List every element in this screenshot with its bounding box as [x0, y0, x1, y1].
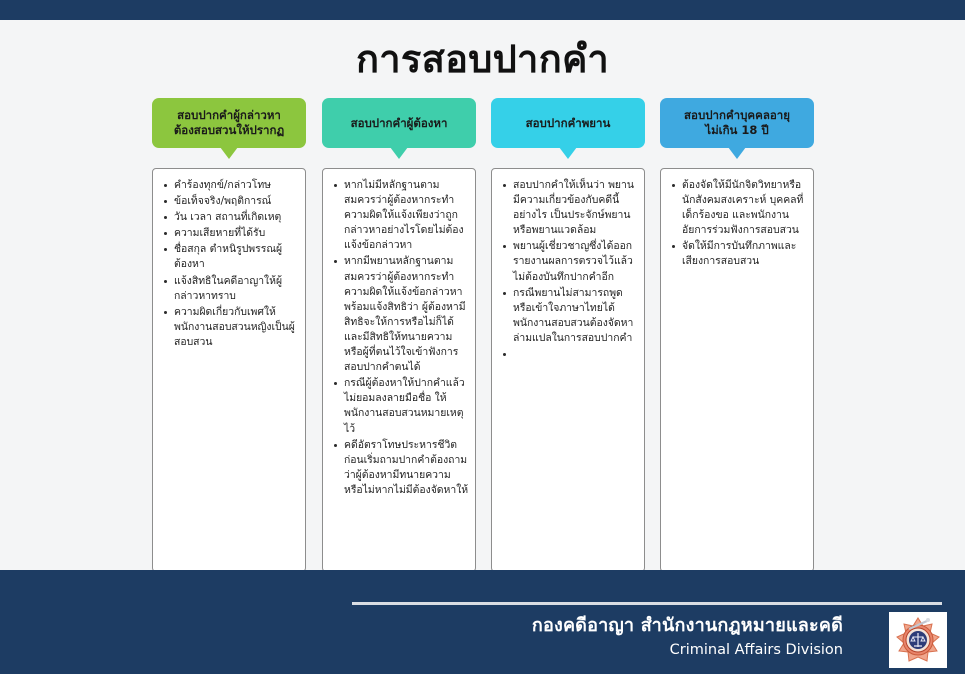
card-suspect: หากไม่มีหลักฐานตามสมควรว่าผู้ต้องหากระทำ…	[322, 168, 476, 572]
column-header-minor: สอบปากคำบุคคลอายุไม่เกิน 18 ปี	[660, 98, 814, 148]
top-band	[0, 0, 965, 20]
column-suspect: สอบปากคำผู้ต้องหา หากไม่มีหลักฐานตามสมคว…	[322, 98, 476, 572]
list-item: ชื่อสกุล ตำหนิรูปพรรณผู้ต้องหา	[174, 242, 299, 272]
list-item: วัน เวลา สถานที่เกิดเหตุ	[174, 210, 299, 225]
column-header-label: สอบปากคำผู้ต้องหา	[351, 116, 448, 131]
column-witness: สอบปากคำพยาน สอบปากคำให้เห็นว่า พยานมีคว…	[491, 98, 645, 572]
footer-divider	[352, 602, 942, 605]
card-accuser: คำร้องทุกข์/กล่าวโทษ ข้อเท็จจริง/พฤติการ…	[152, 168, 306, 572]
footer-english-text: Criminal Affairs Division	[532, 640, 843, 660]
bullet-list: ต้องจัดให้มีนักจิตวิทยาหรือนักสังคมสงเคร…	[665, 178, 807, 270]
header-arrow-icon	[390, 147, 408, 159]
columns-container: สอบปากคำผู้กล่าวหาต้องสอบสวนให้ปรากฏ คำร…	[152, 98, 822, 572]
slide: การสอบปากคำ สอบปากคำผู้กล่าวหาต้องสอบสวน…	[0, 0, 965, 674]
column-header-witness: สอบปากคำพยาน	[491, 98, 645, 148]
header-arrow-icon	[728, 147, 746, 159]
column-header-label: สอบปากคำพยาน	[526, 116, 611, 131]
column-accuser: สอบปากคำผู้กล่าวหาต้องสอบสวนให้ปรากฏ คำร…	[152, 98, 306, 572]
footer-band: กองคดีอาญา สำนักงานกฎหมายและคดี Criminal…	[0, 570, 965, 674]
header-arrow-icon	[220, 147, 238, 159]
list-item: แจ้งสิทธิในคดีอาญาให้ผู้กล่าวหาทราบ	[174, 274, 299, 304]
seal-graphic	[893, 615, 943, 665]
card-minor: ต้องจัดให้มีนักจิตวิทยาหรือนักสังคมสงเคร…	[660, 168, 814, 572]
column-header-suspect: สอบปากคำผู้ต้องหา	[322, 98, 476, 148]
list-item: กรณีพยานไม่สามารถพูดหรือเข้าใจภาษาไทยได้…	[513, 286, 638, 346]
column-header-label: สอบปากคำบุคคลอายุไม่เกิน 18 ปี	[684, 108, 790, 138]
list-item: จัดให้มีการบันทึกภาพและเสียงการสอบสวน	[682, 239, 807, 269]
police-legal-seal-icon	[889, 612, 947, 668]
list-item: ความเสียหายที่ได้รับ	[174, 226, 299, 241]
list-item: หากมีพยานหลักฐานตามสมควรว่าผู้ต้องหากระท…	[344, 254, 469, 375]
column-minor: สอบปากคำบุคคลอายุไม่เกิน 18 ปี ต้องจัดให…	[660, 98, 814, 572]
list-item: ความผิดเกี่ยวกับเพศให้พนักงานสอบสวนหญิงเ…	[174, 305, 299, 350]
column-header-accuser: สอบปากคำผู้กล่าวหาต้องสอบสวนให้ปรากฏ	[152, 98, 306, 148]
column-header-label: สอบปากคำผู้กล่าวหาต้องสอบสวนให้ปรากฏ	[174, 108, 284, 138]
card-witness: สอบปากคำให้เห็นว่า พยานมีความเกี่ยวข้องก…	[491, 168, 645, 572]
list-item: คำร้องทุกข์/กล่าวโทษ	[174, 178, 299, 193]
list-item: ต้องจัดให้มีนักจิตวิทยาหรือนักสังคมสงเคร…	[682, 178, 807, 238]
bullet-list: คำร้องทุกข์/กล่าวโทษ ข้อเท็จจริง/พฤติการ…	[157, 178, 299, 350]
page-title: การสอบปากคำ	[0, 28, 965, 89]
list-item: สอบปากคำให้เห็นว่า พยานมีความเกี่ยวข้องก…	[513, 178, 638, 238]
footer-credit: กองคดีอาญา สำนักงานกฎหมายและคดี Criminal…	[532, 614, 843, 660]
bullet-list: สอบปากคำให้เห็นว่า พยานมีความเกี่ยวข้องก…	[496, 178, 638, 360]
list-item-empty	[513, 347, 638, 360]
bullet-list: หากไม่มีหลักฐานตามสมควรว่าผู้ต้องหากระทำ…	[327, 178, 469, 498]
list-item: พยานผู้เชี่ยวชาญซึ่งได้ออกรายงานผลการตรว…	[513, 239, 638, 284]
list-item: กรณีผู้ต้องหาให้ปากคำแล้วไม่ยอมลงลายมือช…	[344, 376, 469, 436]
list-item: หากไม่มีหลักฐานตามสมควรว่าผู้ต้องหากระทำ…	[344, 178, 469, 253]
list-item: คดีอัตราโทษประหารชีวิตก่อนเริ่มถามปากคำต…	[344, 438, 469, 498]
footer-thai-text: กองคดีอาญา สำนักงานกฎหมายและคดี	[532, 614, 843, 638]
header-arrow-icon	[559, 147, 577, 159]
list-item: ข้อเท็จจริง/พฤติการณ์	[174, 194, 299, 209]
